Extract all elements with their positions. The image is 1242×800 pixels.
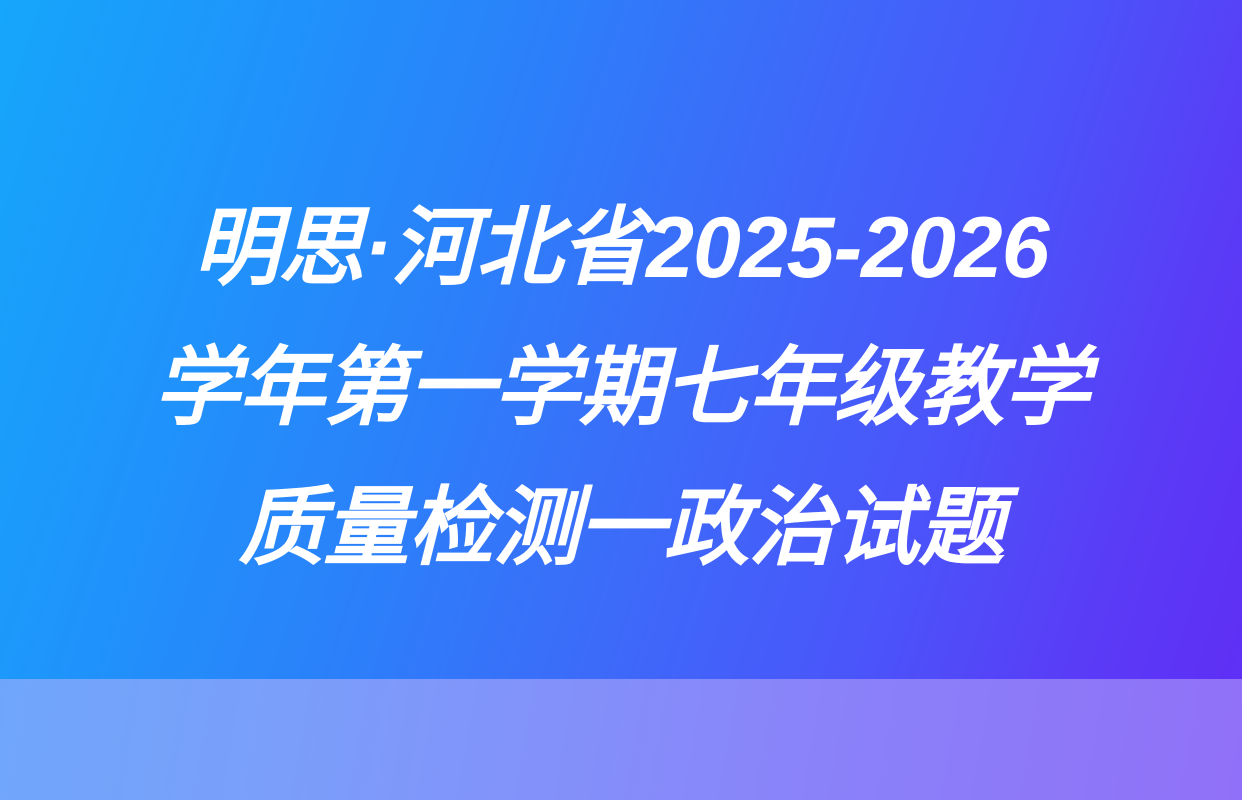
title-line-1: 明思·河北省2025-2026 <box>0 178 1242 318</box>
title-line-2: 学年第一学期七年级教学 <box>0 318 1242 458</box>
page-title: 明思·河北省2025-2026 学年第一学期七年级教学 质量检测一政治试题 <box>0 178 1242 598</box>
watermark-band: 答案解析网APP <box>0 679 1242 800</box>
title-line-3: 质量检测一政治试题 <box>0 458 1242 598</box>
cover-page: 明思·河北省2025-2026 学年第一学期七年级教学 质量检测一政治试题 答案… <box>0 0 1242 800</box>
title-banner: 明思·河北省2025-2026 学年第一学期七年级教学 质量检测一政治试题 <box>0 0 1242 679</box>
